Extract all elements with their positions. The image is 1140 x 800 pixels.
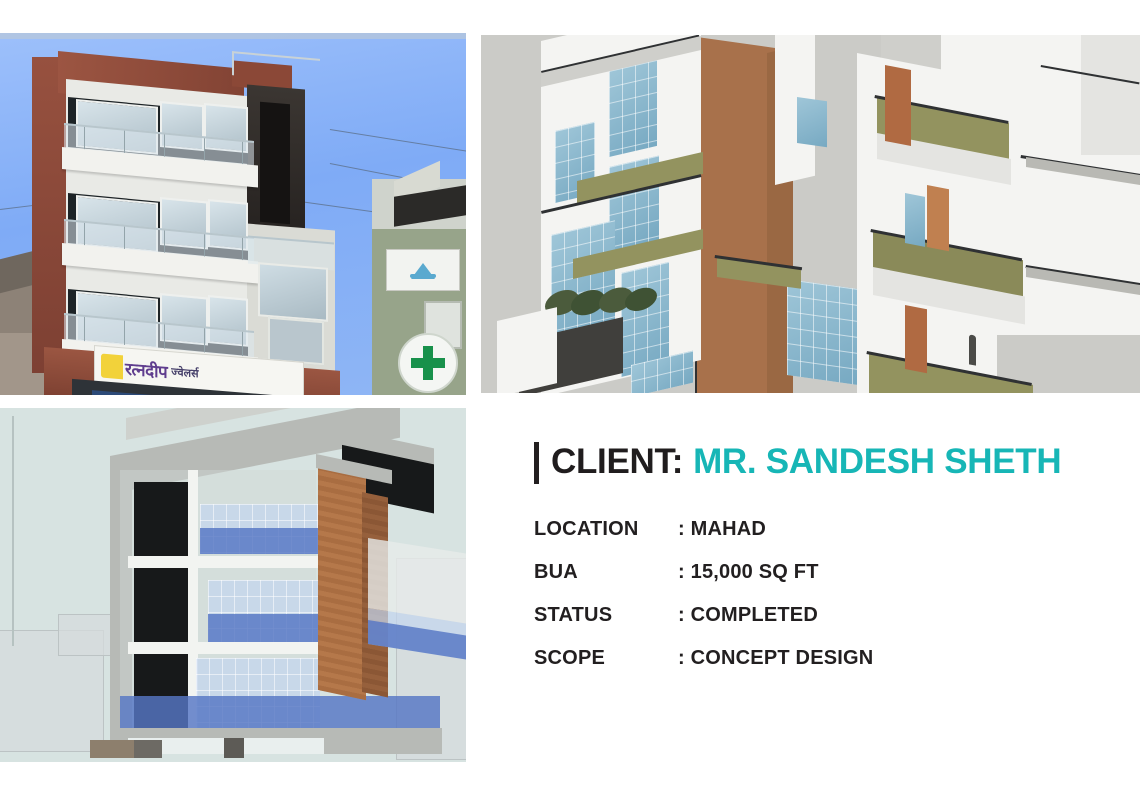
window-core-upper [797,97,827,147]
terrace-door-2 [927,185,949,251]
detail-row-status: STATUS : COMPLETED [534,604,1134,647]
ground-column-2 [224,738,244,758]
brick-core-face [697,37,775,393]
detail-label-bua: BUA [534,561,678,584]
detail-label-status: STATUS [534,604,678,627]
detail-row-location: LOCATION : MAHAD [534,518,1134,561]
terrace-door-3 [885,65,911,146]
side-window-upper [258,262,328,322]
glass-railing-1 [120,696,440,730]
dark-bay-2 [134,568,192,642]
3d-render-aerial-corner [481,35,1140,393]
accent-bar [534,442,539,484]
detail-value-scope: : CONCEPT DESIGN [678,647,873,670]
terrace-door-1 [905,305,927,373]
detail-value-location: : MAHAD [678,518,766,541]
pharmacy-cross-icon [398,333,458,393]
neighbour-signboard [386,249,460,291]
glass-railing-2 [208,614,320,642]
signboard-logo-icon [101,354,123,380]
ground-step [90,740,134,758]
detail-row-scope: SCOPE : CONCEPT DESIGN [534,647,1134,690]
signboard-subtext: ज्वेलर्स [171,364,198,381]
completed-building-photograph: रत्नदीप ज्वेलर्स [0,33,466,395]
terrace-window-2 [905,193,925,247]
side-window-lower [268,317,324,366]
detail-row-bua: BUA : 15,000 SQ FT [534,561,1134,604]
main-building-mass: रत्नदीप ज्वेलर्स [32,51,332,395]
context-block-left-top [58,614,116,656]
floor-band-3 [128,556,318,568]
glass-railing-3 [200,528,320,554]
ground-column [134,740,162,758]
side-recess [260,102,290,225]
timber-cladding [318,460,366,700]
client-label: CLIENT: [551,442,683,482]
3d-render-street-elevation [0,408,466,762]
project-information-block: CLIENT: MR. SANDESH SHETH LOCATION : MAH… [534,438,1134,690]
detail-value-status: : COMPLETED [678,604,818,627]
dark-bay-3 [134,482,192,556]
project-details-list: LOCATION : MAHAD BUA : 15,000 SQ FT STAT… [534,518,1134,690]
client-name: MR. SANDESH SHETH [693,442,1061,482]
triangle-logo-base-icon [410,274,436,278]
scale-figure [969,334,976,365]
detail-label-location: LOCATION [534,518,678,541]
context-pole [12,416,14,646]
window-right-core [787,279,857,385]
floor-band-2 [128,642,318,654]
ground-pier [497,307,557,393]
detail-label-scope: SCOPE [534,647,678,670]
project-sheet: रत्नदीप ज्वेलर्स [0,0,1140,800]
signboard-text: रत्नदीप [125,356,167,382]
window-top-a [609,60,657,157]
detail-value-bua: : 15,000 SQ FT [678,561,819,584]
client-title-row: CLIENT: MR. SANDESH SHETH [534,438,1134,486]
background-wall-2 [1081,35,1140,155]
